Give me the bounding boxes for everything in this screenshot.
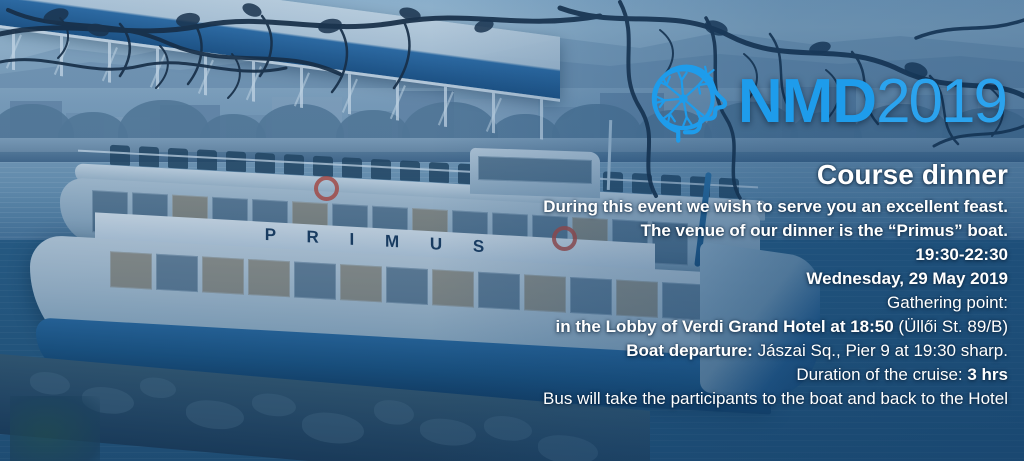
neuron-soma [679, 94, 688, 103]
life-ring-icon [314, 176, 339, 201]
info-line-gathering-label: Gathering point: [408, 291, 1008, 315]
logo-acronym: NMD [738, 67, 876, 136]
info-line-venue: The venue of our dinner is the “Primus” … [408, 219, 1008, 243]
shore-bush [10, 396, 100, 461]
info-line-intro: During this event we wish to serve you a… [408, 195, 1008, 219]
info-line-date: Wednesday, 29 May 2019 [408, 267, 1008, 291]
lobby-bold-text: in the Lobby of Verdi Grand Hotel at 18:… [556, 317, 894, 336]
page-title: Course dinner [408, 158, 1008, 192]
logo-year: 2019 [876, 67, 1006, 136]
departure-detail-text: Jászai Sq., Pier 9 at 19:30 sharp. [753, 341, 1008, 360]
dinner-info-block: Course dinner During this event we wish … [408, 158, 1008, 411]
duration-value-text: 3 hrs [967, 365, 1008, 384]
nmd-logo: NMD2019 [648, 60, 1006, 144]
logo-wordmark: NMD2019 [738, 71, 1006, 133]
info-line-lobby: in the Lobby of Verdi Grand Hotel at 18:… [408, 315, 1008, 339]
info-line-bus: Bus will take the participants to the bo… [408, 387, 1008, 411]
info-line-time: 19:30-22:30 [408, 243, 1008, 267]
lobby-address-text: (Üllői St. 89/B) [894, 317, 1008, 336]
duration-label-text: Duration of the cruise: [796, 365, 967, 384]
info-line-departure: Boat departure: Jászai Sq., Pier 9 at 19… [408, 339, 1008, 363]
info-line-duration: Duration of the cruise: 3 hrs [408, 363, 1008, 387]
course-dinner-banner: P R I M U S [0, 0, 1024, 461]
departure-label-text: Boat departure: [626, 341, 753, 360]
head-neuron-icon [648, 60, 732, 144]
